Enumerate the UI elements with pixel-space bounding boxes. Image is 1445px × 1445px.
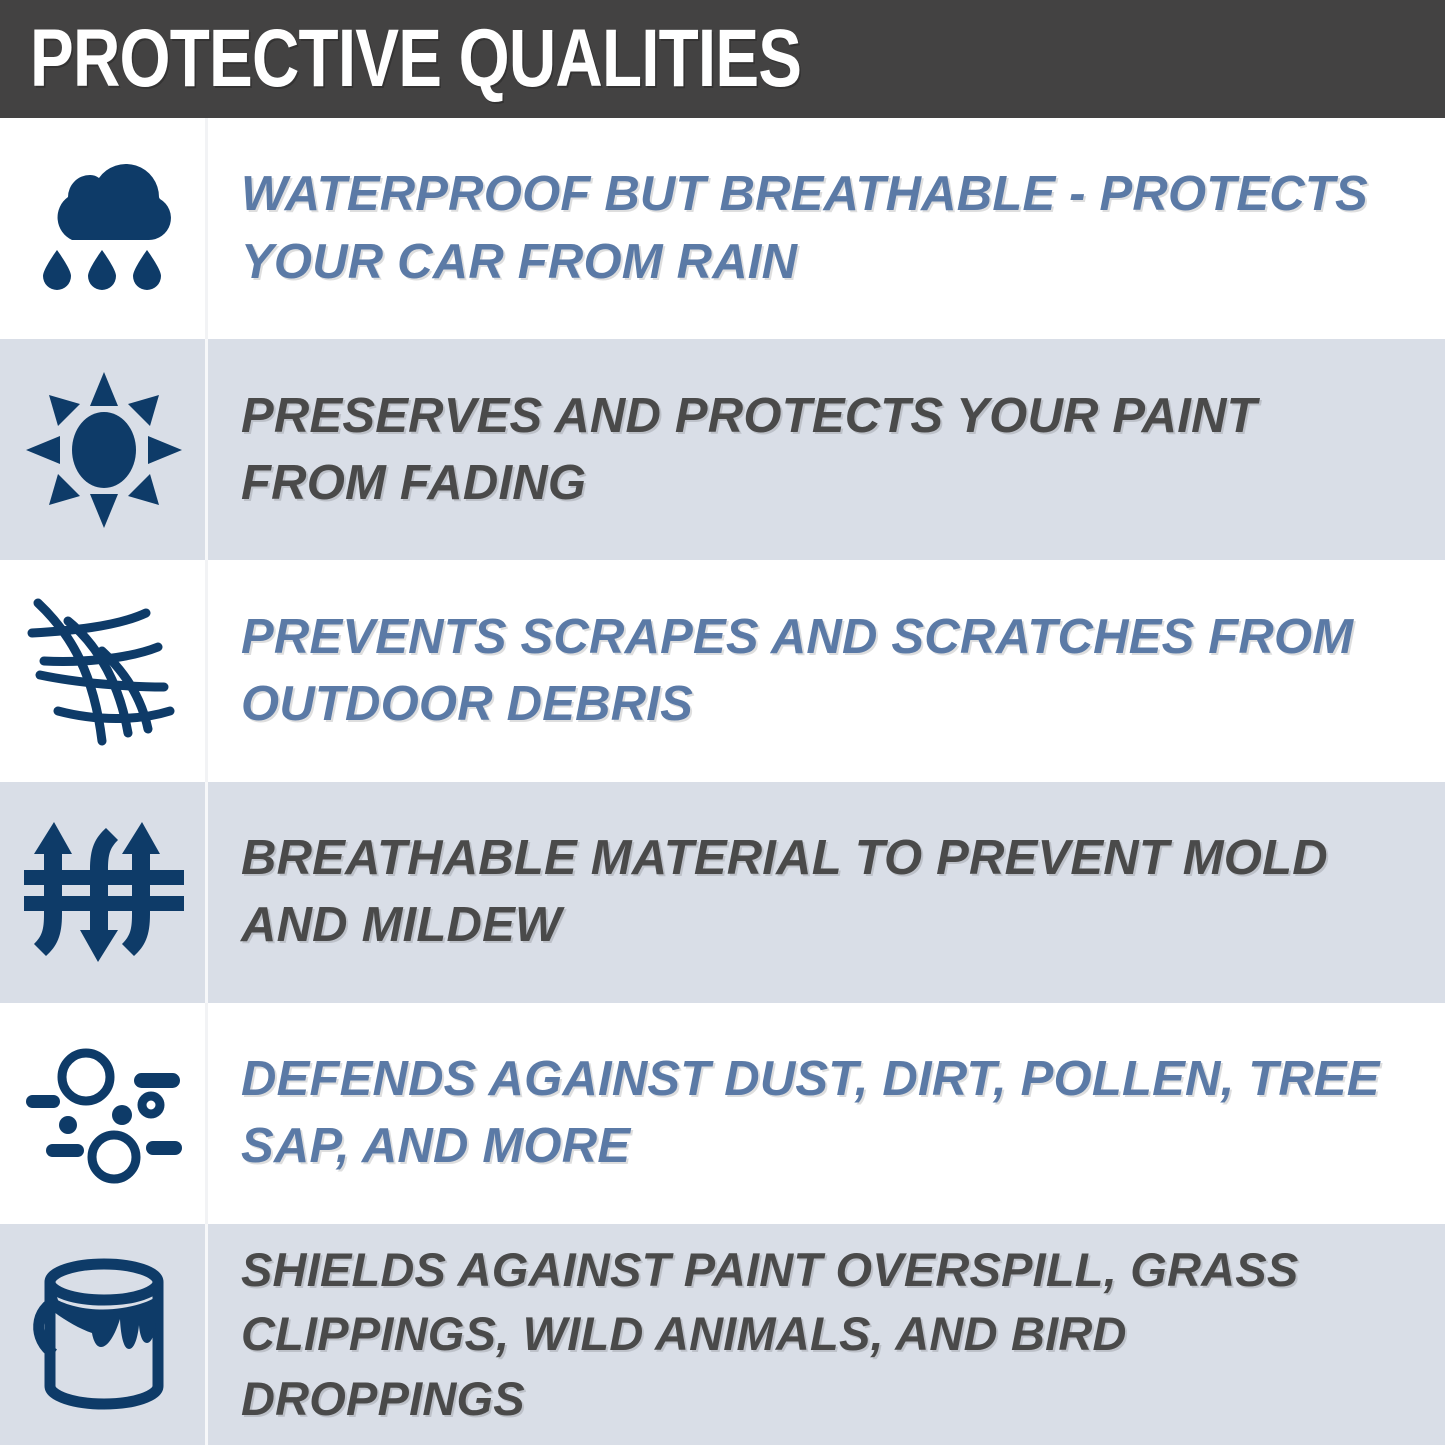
icon-cell (0, 118, 208, 339)
icon-cell (0, 1224, 208, 1445)
icon-cell (0, 1003, 208, 1224)
icon-cell (0, 339, 208, 560)
text-cell: PREVENTS SCRAPES AND SCRATCHES FROM OUTD… (208, 560, 1445, 781)
infographic-panel: PROTECTIVE QUALITIES WAT (0, 0, 1445, 1445)
text-cell: DEFENDS AGAINST DUST, DIRT, POLLEN, TREE… (208, 1003, 1445, 1224)
feature-list: WATERPROOF BUT BREATHABLE - PROTECTS YOU… (0, 118, 1445, 1445)
feature-row-uv-protection: PRESERVES AND PROTECTS YOUR PAINT FROM F… (0, 339, 1445, 560)
feature-row-scratch-resistance: PREVENTS SCRAPES AND SCRATCHES FROM OUTD… (0, 560, 1445, 781)
page-title: PROTECTIVE QUALITIES (30, 17, 801, 101)
text-cell: BREATHABLE MATERIAL TO PREVENT MOLD AND … (208, 782, 1445, 1003)
feature-row-breathability: BREATHABLE MATERIAL TO PREVENT MOLD AND … (0, 782, 1445, 1003)
feature-text: PRESERVES AND PROTECTS YOUR PAINT FROM F… (241, 383, 1405, 517)
feature-text: SHIELDS AGAINST PAINT OVERSPILL, GRASS C… (241, 1238, 1405, 1431)
paint-can-icon (24, 1254, 184, 1414)
breathable-airflow-icon (24, 812, 184, 972)
feature-row-stain-shield: SHIELDS AGAINST PAINT OVERSPILL, GRASS C… (0, 1224, 1445, 1445)
feature-text: BREATHABLE MATERIAL TO PREVENT MOLD AND … (241, 825, 1405, 959)
text-cell: WATERPROOF BUT BREATHABLE - PROTECTS YOU… (208, 118, 1445, 339)
feature-row-dust-defense: DEFENDS AGAINST DUST, DIRT, POLLEN, TREE… (0, 1003, 1445, 1224)
feature-row-waterproof: WATERPROOF BUT BREATHABLE - PROTECTS YOU… (0, 118, 1445, 339)
feature-text: WATERPROOF BUT BREATHABLE - PROTECTS YOU… (241, 161, 1405, 295)
feature-text: DEFENDS AGAINST DUST, DIRT, POLLEN, TREE… (241, 1046, 1405, 1180)
sun-icon (24, 370, 184, 530)
text-cell: PRESERVES AND PROTECTS YOUR PAINT FROM F… (208, 339, 1445, 560)
scratch-mesh-icon (24, 591, 184, 751)
text-cell: SHIELDS AGAINST PAINT OVERSPILL, GRASS C… (208, 1224, 1445, 1445)
feature-text: PREVENTS SCRAPES AND SCRATCHES FROM OUTD… (241, 604, 1405, 738)
header-bar: PROTECTIVE QUALITIES (0, 0, 1445, 118)
icon-cell (0, 560, 208, 781)
rain-cloud-icon (24, 149, 184, 309)
dust-particles-icon (24, 1033, 184, 1193)
icon-cell (0, 782, 208, 1003)
